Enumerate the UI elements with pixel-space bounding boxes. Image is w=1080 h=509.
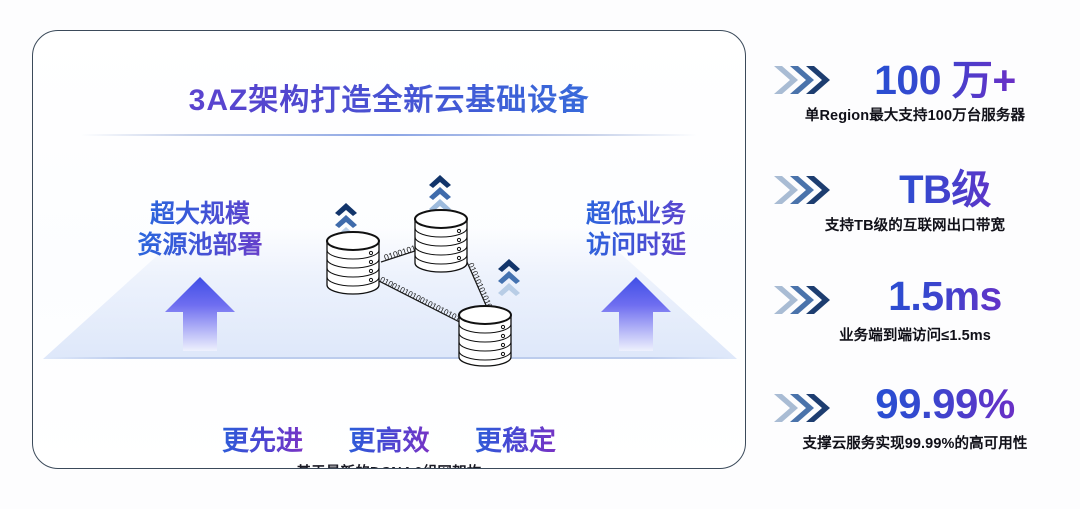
up-arrow-icon-left xyxy=(161,275,239,353)
chevron-up-marker-top xyxy=(429,175,451,212)
slide-root: 3AZ架构打造全新云基础设备 超大规模 资源池部署 xyxy=(0,0,1080,509)
stat-description: 支撑云服务实现99.99%的高可用性 xyxy=(760,432,1070,453)
up-arrow-icon-right xyxy=(597,275,675,353)
stat-value: TB级 xyxy=(820,158,1070,214)
database-cylinder-bottom-right xyxy=(459,306,511,366)
right-feature-label: 超低业务 访问时延 xyxy=(541,199,731,260)
bottom-keyword-3: 更稳定 xyxy=(475,419,556,458)
stat-value: 100 万+ xyxy=(820,48,1070,104)
bottom-keyword-2: 更高效 xyxy=(349,419,430,458)
stat-description: 业务端到端访问≤1.5ms xyxy=(760,324,1070,345)
chevron-up-marker-right xyxy=(498,259,520,296)
stat-value: 99.99% xyxy=(820,376,1070,432)
stat-item-latency: 1.5ms 业务端到端访问≤1.5ms xyxy=(760,268,1070,368)
left-feature-label: 超大规模 资源池部署 xyxy=(105,199,295,260)
stat-description: 单Region最大支持100万台服务器 xyxy=(760,104,1070,125)
page-title: 3AZ架构打造全新云基础设备 xyxy=(33,75,745,119)
stat-item-servers: 100 万+ 单Region最大支持100万台服务器 xyxy=(760,48,1070,148)
network-diagram: 0100101010 010101010101 0100101010010101… xyxy=(309,167,539,367)
left-feature-label-line1: 超大规模 xyxy=(105,199,295,230)
stat-description: 支持TB级的互联网出口带宽 xyxy=(760,214,1070,235)
bottom-keyword-1: 更先进 xyxy=(222,419,303,458)
bottom-subtitle: 基于最新的DCN4.0组网架构 xyxy=(33,461,745,469)
right-feature-label-line1: 超低业务 xyxy=(541,199,731,230)
title-divider xyxy=(81,134,697,136)
stat-item-bandwidth: TB级 支持TB级的互联网出口带宽 xyxy=(760,158,1070,258)
main-panel: 3AZ架构打造全新云基础设备 超大规模 资源池部署 xyxy=(32,30,746,469)
stat-item-availability: 99.99% 支撑云服务实现99.99%的高可用性 xyxy=(760,376,1070,476)
stat-value: 1.5ms xyxy=(820,268,1070,324)
left-feature-label-line2: 资源池部署 xyxy=(105,230,295,261)
database-cylinder-left xyxy=(327,232,379,294)
database-cylinder-top xyxy=(415,210,467,272)
bottom-keywords: 更先进 更高效 更稳定 xyxy=(33,419,745,458)
panel-inner: 3AZ架构打造全新云基础设备 超大规模 资源池部署 xyxy=(33,31,745,468)
right-feature-label-line2: 访问时延 xyxy=(541,230,731,261)
stats-list: 100 万+ 单Region最大支持100万台服务器 TB级 支持TB级的互联网… xyxy=(760,30,1070,485)
